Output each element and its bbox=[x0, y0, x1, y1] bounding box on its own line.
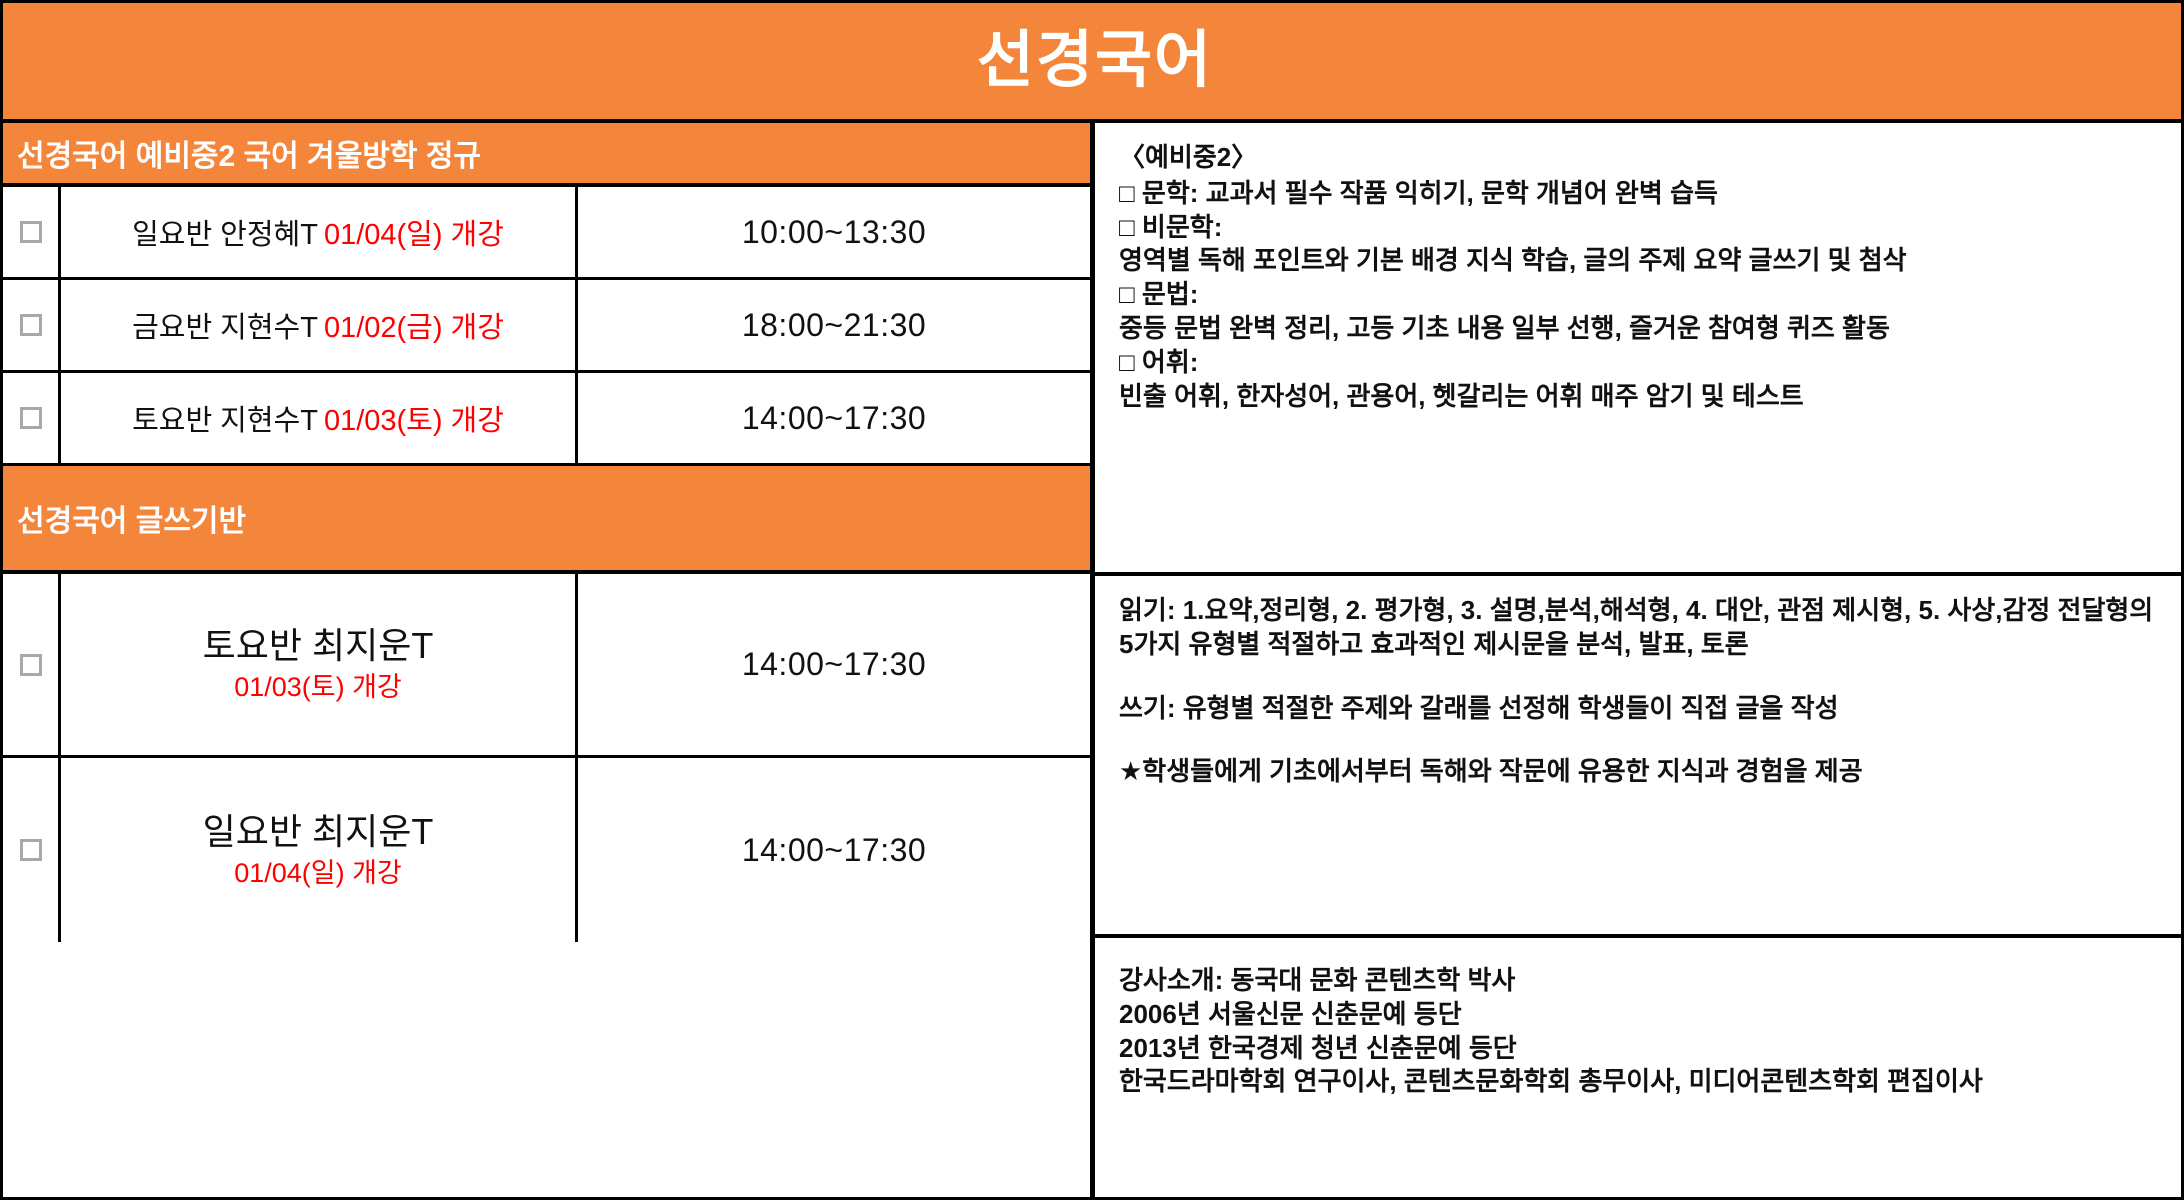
desc-line: □ 문법: bbox=[1119, 278, 2167, 312]
checkbox-icon[interactable] bbox=[20, 654, 42, 676]
class-name-cell: 금요반 지현수T01/02(금) 개강 bbox=[61, 280, 578, 370]
desc-line: 2013년 한국경제 청년 신춘문예 등단 bbox=[1119, 1032, 2167, 1066]
table-row[interactable]: 일요반 안정혜T01/04(일) 개강 10:00~13:30 bbox=[3, 187, 1090, 280]
desc-line: 빈출 어휘, 한자성어, 관용어, 헷갈리는 어휘 매주 암기 및 테스트 bbox=[1119, 380, 2167, 414]
class-name-text: 일요반 최지운T bbox=[203, 809, 434, 854]
class-name-inline: 일요반 안정혜T01/04(일) 개강 bbox=[132, 211, 504, 253]
desc-line: 강사소개: 동국대 문화 콘텐츠학 박사 bbox=[1119, 964, 2167, 998]
course-table-pane: 선경국어 예비중2 국어 겨울방학 정규 일요반 안정혜T01/04(일) 개강… bbox=[3, 123, 1095, 1200]
desc-line-highlight: ★학생들에게 기초에서부터 독해와 작문에 유용한 지식과 경험을 제공 bbox=[1119, 755, 2167, 789]
page-title-banner: 선경국어 bbox=[3, 3, 2184, 123]
description-block-preliminary: 〈예비중2〉 □ 문학: 교과서 필수 작품 익히기, 문학 개념어 완벽 습득… bbox=[1095, 123, 2184, 576]
class-time-cell: 18:00~21:30 bbox=[578, 280, 1090, 370]
description-block-instructor: 강사소개: 동국대 문화 콘텐츠학 박사 2006년 서울신문 신춘문예 등단 … bbox=[1095, 938, 2184, 1200]
row-select-cell[interactable] bbox=[3, 280, 61, 370]
desc-line: 2006년 서울신문 신춘문예 등단 bbox=[1119, 998, 2167, 1032]
start-date-text: 01/03(토) 개강 bbox=[234, 670, 402, 705]
checkbox-icon[interactable] bbox=[20, 407, 42, 429]
start-date-text: 01/03(토) 개강 bbox=[324, 405, 504, 437]
description-block-writing: 읽기: 1.요약,정리형, 2. 평가형, 3. 설명,분석,해석형, 4. 대… bbox=[1095, 576, 2184, 938]
class-time-cell: 14:00~17:30 bbox=[578, 574, 1090, 755]
class-time-cell: 10:00~13:30 bbox=[578, 187, 1090, 277]
desc-line: 중등 문법 완벽 정리, 고등 기초 내용 일부 선행, 즐거운 참여형 퀴즈 … bbox=[1119, 312, 2167, 346]
row-select-cell[interactable] bbox=[3, 373, 61, 463]
class-time-text: 18:00~21:30 bbox=[742, 307, 926, 344]
class-name-cell: 일요반 최지운T 01/04(일) 개강 bbox=[61, 758, 578, 942]
class-name-text: 금요반 지현수T bbox=[132, 312, 318, 344]
class-name-text: 토요반 지현수T bbox=[132, 405, 318, 437]
class-name-inline: 금요반 지현수T01/02(금) 개강 bbox=[132, 304, 504, 346]
checkbox-icon[interactable] bbox=[20, 839, 42, 861]
desc-line-writing: 쓰기: 유형별 적절한 주제와 갈래를 선정해 학생들이 직접 글을 작성 bbox=[1119, 692, 2167, 726]
class-name-text: 토요반 최지운T bbox=[203, 623, 434, 668]
class-time-cell: 14:00~17:30 bbox=[578, 373, 1090, 463]
table-row[interactable]: 토요반 최지운T 01/03(토) 개강 14:00~17:30 bbox=[3, 574, 1090, 758]
desc-heading: 〈예비중2〉 bbox=[1119, 141, 2167, 175]
desc-line: □ 문학: 교과서 필수 작품 익히기, 문학 개념어 완벽 습득 bbox=[1119, 177, 2167, 211]
class-time-text: 14:00~17:30 bbox=[742, 400, 926, 437]
row-select-cell[interactable] bbox=[3, 574, 61, 755]
class-name-cell: 토요반 지현수T01/03(토) 개강 bbox=[61, 373, 578, 463]
class-name-text: 일요반 안정혜T bbox=[132, 219, 318, 251]
start-date-text: 01/02(금) 개강 bbox=[324, 312, 504, 344]
table-row[interactable]: 토요반 지현수T01/03(토) 개강 14:00~17:30 bbox=[3, 373, 1090, 466]
start-date-text: 01/04(일) 개강 bbox=[234, 856, 402, 891]
desc-line: □ 비문학: bbox=[1119, 211, 2167, 245]
class-time-text: 14:00~17:30 bbox=[742, 646, 926, 683]
desc-spacer bbox=[1119, 662, 2167, 692]
start-date-text: 01/04(일) 개강 bbox=[324, 219, 504, 251]
desc-line: 영역별 독해 포인트와 기본 배경 지식 학습, 글의 주제 요약 글쓰기 및 … bbox=[1119, 244, 2167, 278]
class-name-cell: 일요반 안정혜T01/04(일) 개강 bbox=[61, 187, 578, 277]
class-time-text: 14:00~17:30 bbox=[742, 832, 926, 869]
section-header-writing: 선경국어 글쓰기반 bbox=[3, 466, 1090, 574]
table-row[interactable]: 금요반 지현수T01/02(금) 개강 18:00~21:30 bbox=[3, 280, 1090, 373]
class-time-text: 10:00~13:30 bbox=[742, 214, 926, 251]
class-time-cell: 14:00~17:30 bbox=[578, 758, 1090, 942]
row-select-cell[interactable] bbox=[3, 187, 61, 277]
checkbox-icon[interactable] bbox=[20, 221, 42, 243]
class-name-inline: 토요반 지현수T01/03(토) 개강 bbox=[132, 397, 504, 439]
row-select-cell[interactable] bbox=[3, 758, 61, 942]
checkbox-icon[interactable] bbox=[20, 314, 42, 336]
description-pane: 〈예비중2〉 □ 문학: 교과서 필수 작품 익히기, 문학 개념어 완벽 습득… bbox=[1095, 123, 2184, 1200]
table-row[interactable]: 일요반 최지운T 01/04(일) 개강 14:00~17:30 bbox=[3, 758, 1090, 942]
desc-line-reading: 읽기: 1.요약,정리형, 2. 평가형, 3. 설명,분석,해석형, 4. 대… bbox=[1119, 594, 2167, 662]
desc-line: □ 어휘: bbox=[1119, 346, 2167, 380]
desc-spacer bbox=[1119, 725, 2167, 755]
course-schedule-page: 선경국어 선경국어 예비중2 국어 겨울방학 정규 일요반 안정혜T01/04(… bbox=[0, 0, 2184, 1200]
content-area: 선경국어 예비중2 국어 겨울방학 정규 일요반 안정혜T01/04(일) 개강… bbox=[3, 123, 2184, 1200]
section-title-writing: 선경국어 글쓰기반 bbox=[17, 496, 246, 540]
desc-line: 한국드라마학회 연구이사, 콘텐츠문화학회 총무이사, 미디어콘텐츠학회 편집이… bbox=[1119, 1065, 2167, 1099]
section-title-regular: 선경국어 예비중2 국어 겨울방학 정규 bbox=[17, 131, 481, 175]
page-title: 선경국어 bbox=[977, 30, 1213, 92]
section-header-regular: 선경국어 예비중2 국어 겨울방학 정규 bbox=[3, 123, 1090, 187]
class-name-cell: 토요반 최지운T 01/03(토) 개강 bbox=[61, 574, 578, 755]
